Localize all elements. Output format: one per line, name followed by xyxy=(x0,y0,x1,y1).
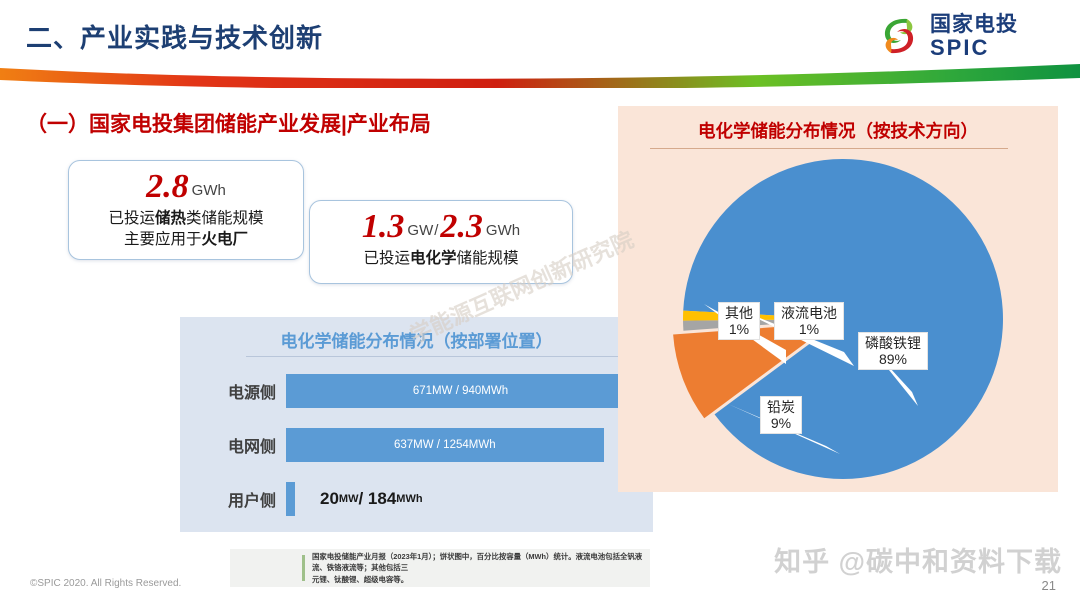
stat-unit: GWh xyxy=(192,182,226,199)
bar-fill: 637MW / 1254MWh xyxy=(286,428,604,462)
logo-text-en: SPIC xyxy=(930,37,1018,59)
bar-row: 电网侧637MW / 1254MWh xyxy=(180,421,653,469)
bar-value-label: 20MW / 184MWh xyxy=(320,482,423,516)
stat-value-power: 1.3 xyxy=(362,208,405,245)
pie-callout-flow-battery: 液流电池 1% xyxy=(774,302,844,340)
spic-helix-logo-icon xyxy=(876,13,922,59)
desc-bold: 储热 xyxy=(155,210,186,227)
slide-canvas: 二、产业实践与技术创新 xyxy=(0,0,1080,608)
copyright-text: ©SPIC 2020. All Rights Reserved. xyxy=(30,578,181,589)
footnote-line-2: 元锂、钛酸锂、超级电容等。 xyxy=(312,574,644,585)
bar-fill xyxy=(286,482,295,516)
desc-pre-2: 主要应用于 xyxy=(124,231,202,248)
footnote-box: 国家电投储能产业月报（2023年1月）；饼状图中，百分比按容量（MWh）统计。液… xyxy=(230,549,650,587)
pie-callout-lfp-value: 89% xyxy=(865,351,921,367)
desc-post: 类储能规模 xyxy=(186,210,264,227)
bar-row: 电源侧671MW / 940MWh xyxy=(180,367,653,415)
bar-row: 用户侧20MW / 184MWh xyxy=(180,475,653,523)
bar-category-label: 电网侧 xyxy=(180,433,286,457)
pie-callout-flow-battery-value: 1% xyxy=(781,321,837,337)
bar-title-divider xyxy=(246,356,629,357)
stat-value: 2.8 xyxy=(146,168,189,205)
pie-callout-lfp-label: 磷酸铁锂 xyxy=(865,335,921,351)
pie-callout-flow-battery-label: 液流电池 xyxy=(781,305,837,321)
bar-chart-panel: 电化学储能分布情况（按部署位置） 电源侧671MW / 940MWh电网侧637… xyxy=(180,317,653,532)
bar-track: 637MW / 1254MWh xyxy=(286,428,653,462)
stat-value-row: 2.8GWh xyxy=(69,170,303,204)
pie-callout-other: 其他 1% xyxy=(718,302,760,340)
pie-callout-other-value: 1% xyxy=(725,321,753,337)
stat-description: 已投运电化学储能规模 xyxy=(310,249,572,269)
bar-category-label: 用户侧 xyxy=(180,487,286,511)
stat-card-electrochemical-storage: 1.3GW/2.3GWh 已投运电化学储能规模 xyxy=(309,200,573,284)
stat-value-row-2: 1.3GW/2.3GWh xyxy=(310,210,572,244)
pie-callout-other-label: 其他 xyxy=(725,305,753,321)
stat-unit-power: GW xyxy=(407,222,433,239)
bar-category-label: 电源侧 xyxy=(180,379,286,403)
bar-fill: 671MW / 940MWh xyxy=(286,374,635,408)
desc-pre: 已投运 xyxy=(108,210,155,227)
page-title: 二、产业实践与技术创新 xyxy=(26,18,323,55)
footnote-text: 国家电投储能产业月报（2023年1月）；饼状图中，百分比按容量（MWh）统计。液… xyxy=(312,551,650,585)
page-number: 21 xyxy=(1042,578,1056,593)
section-subtitle: （一）国家电投集团储能产业发展|产业布局 xyxy=(26,108,431,138)
pie-chart-title: 电化学储能分布情况（按技术方向） xyxy=(618,118,1058,143)
desc2-bold: 电化学 xyxy=(410,250,457,267)
stat-card-thermal-storage: 2.8GWh 已投运储热类储能规模 主要应用于火电厂 xyxy=(68,160,304,260)
footnote-line-1: 国家电投储能产业月报（2023年1月）；饼状图中，百分比按容量（MWh）统计。液… xyxy=(312,551,644,574)
logo-text-cn: 国家电投 xyxy=(930,14,1018,35)
desc2-pre: 已投运 xyxy=(363,250,410,267)
pie-title-divider xyxy=(650,148,1008,149)
bar-track: 20MW / 184MWh xyxy=(286,482,653,516)
desc2-post: 储能规模 xyxy=(457,250,519,267)
footnote-accent-bar xyxy=(302,555,305,581)
stat-separator: / xyxy=(434,222,438,239)
stat-description-line1: 已投运储热类储能规模 xyxy=(69,209,303,229)
bar-track: 671MW / 940MWh xyxy=(286,374,653,408)
header-gradient-band xyxy=(0,62,1080,88)
stat-unit-energy: GWh xyxy=(486,222,520,239)
pie-callout-lead-carbon-label: 铅炭 xyxy=(767,399,795,415)
bar-chart-rows: 电源侧671MW / 940MWh电网侧637MW / 1254MWh用户侧20… xyxy=(180,367,653,529)
pie-callout-lead-carbon-value: 9% xyxy=(767,415,795,431)
watermark-zhihu: 知乎 @碳中和资料下载 xyxy=(774,540,1062,579)
stat-description-line2: 主要应用于火电厂 xyxy=(69,230,303,250)
bar-chart-title: 电化学储能分布情况（按部署位置） xyxy=(180,327,653,352)
pie-chart-panel: 电化学储能分布情况（按技术方向） 其他 1% 液流电池 1% 磷酸铁锂 89% … xyxy=(618,106,1058,492)
pie-callout-lead-carbon: 铅炭 9% xyxy=(760,396,802,434)
desc-bold-2: 火电厂 xyxy=(202,231,249,248)
pie-callout-lfp: 磷酸铁锂 89% xyxy=(858,332,928,370)
stat-value-energy: 2.3 xyxy=(440,208,483,245)
spic-logo: 国家电投 SPIC xyxy=(876,10,1056,62)
